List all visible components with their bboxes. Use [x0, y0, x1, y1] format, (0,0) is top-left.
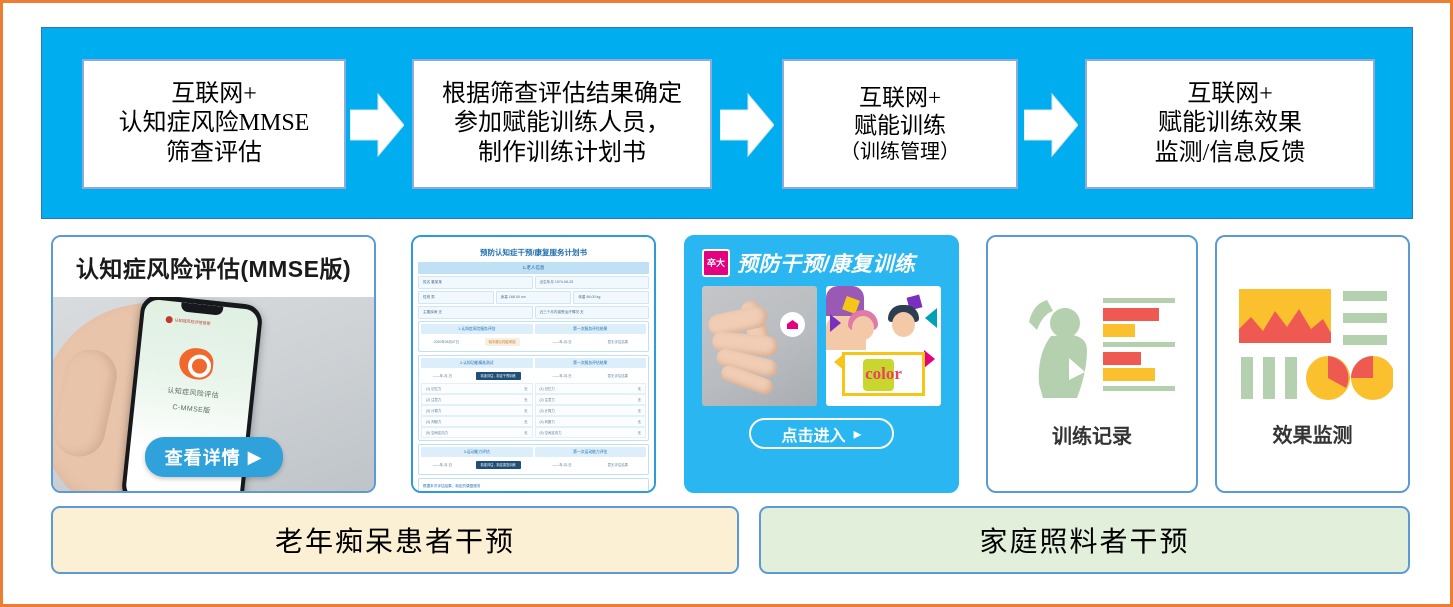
brand-text: 认知症风险评估管家	[174, 317, 210, 326]
plan-cell: 身高 168.00 cm	[496, 291, 572, 304]
plan-items-left: (1) 记忆力无 (2) 注意力无 (3) 计算力无 (4) 判断力无 (5) …	[421, 383, 533, 438]
plan-item-name: (3) 计算力	[540, 408, 555, 413]
plan-cell: 出生年月 1974-06-25	[535, 276, 650, 289]
plan-panel: 1.认知症风险服务评估 第一次服务评估结果 2020年06月07日 轻中度认知症…	[418, 321, 649, 352]
plan-cell: 主要疾病 无	[418, 306, 533, 319]
plan-item-lists: (1) 记忆力无 (2) 注意力无 (3) 计算力无 (4) 判断力无 (5) …	[421, 383, 646, 438]
color-board: color	[842, 352, 925, 396]
plan-item: (5) 空间定向力无	[421, 427, 533, 438]
plan-tag: 暂无评估结果	[608, 339, 628, 344]
plan-item-value: 无	[524, 430, 527, 435]
mmse-photo: 认知症风险评估管家 认知症风险评估 C-MMSE版 开始评测 查看详情 ▶	[53, 297, 374, 491]
plan-panel-sub: ——年-月-日 精准评估，制定干预训练 ——年-月-日 暂无评估结果	[421, 370, 646, 381]
play-arrow-icon: ▶	[248, 447, 263, 468]
plan-panel: 2.认知功能精准测试 第一次服务评估结果 ——年-月-日 精准评估，制定干预训练…	[418, 355, 649, 441]
rehab-header: 卒大 预防干预/康复训练	[686, 237, 957, 286]
plan-footer-heading: 根据本次评估结果，制定的康复服务	[423, 483, 644, 490]
plan-item-value: 无	[638, 419, 641, 424]
plan-item: (4) 判断力无	[535, 416, 647, 427]
enter-button-label: 点击进入	[781, 422, 845, 446]
confetti-shape	[925, 308, 937, 328]
plan-item-value: 无	[638, 386, 641, 391]
card-service-plan[interactable]: 预防认知症干预/康复服务计划书 1.老人信息 姓名 董某某 出生年月 1974-…	[411, 235, 656, 493]
plan-tag: 暂无评估结果	[608, 373, 628, 378]
plan-item-name: (2) 注意力	[426, 397, 441, 402]
confetti-shape	[830, 314, 841, 332]
plan-panel: 3.运动能力评估 第一次运动能力评估 ——年-月-日 精准评估，制定康复训练 —…	[418, 444, 649, 475]
card-rehab-training[interactable]: 卒大 预防干预/康复训练	[684, 235, 959, 493]
card-training-record[interactable]: 训练记录	[986, 235, 1198, 493]
chevron-right-icon: ▸	[853, 424, 861, 444]
plan-panel-left-header: 1.认知症风险服务评估	[421, 324, 533, 334]
plan-date: ——年-月-日	[433, 462, 452, 467]
plan-items-right: (1) 记忆力无 (2) 注意力无 (3) 计算力无 (4) 判断力无 (5) …	[535, 383, 647, 438]
card-effect-monitor[interactable]: 效果监测	[1215, 235, 1410, 493]
plan-footer: 根据本次评估结果，制定的康复服务 ☑认知功能康复训练1 □认知功能康复训练2 □…	[418, 478, 649, 493]
plan-item-name: (1) 记忆力	[540, 386, 555, 391]
plan-panel-header: 1.认知症风险服务评估 第一次服务评估结果	[421, 324, 646, 334]
plan-item-value: 无	[524, 397, 527, 402]
plan-item-value: 无	[638, 408, 641, 413]
plan-item: (3) 计算力无	[535, 405, 647, 416]
mmse-card-title: 认知症风险评估(MMSE版)	[53, 237, 374, 297]
finger-exercise-photo	[702, 286, 817, 406]
plan-item-name: (2) 注意力	[540, 397, 555, 402]
plan-panel-header: 3.运动能力评估 第一次运动能力评估	[421, 447, 646, 457]
plan-option[interactable]: ☑认知功能康复训练4	[538, 490, 570, 493]
card-mmse-assessment[interactable]: 认知症风险评估(MMSE版) 认知症风险评估管家 认知症风险评估 C-MMSE版…	[51, 235, 376, 493]
plan-item: (2) 注意力无	[535, 394, 647, 405]
training-record-tile: 训练记录	[988, 237, 1196, 491]
plan-cell: 近三个月内接受治疗情况 无	[535, 306, 650, 319]
plan-panel-header: 2.认知功能精准测试 第一次服务评估结果	[421, 358, 646, 368]
plan-item-name: (3) 计算力	[426, 408, 441, 413]
plan-item-value: 无	[524, 419, 527, 424]
plan-title: 预防认知症干预/康复服务计划书	[418, 242, 649, 262]
color-poster-image: color	[826, 286, 941, 406]
plan-panel-right-sub: ——年-月-日 暂无评估结果	[535, 459, 647, 470]
plan-item-name: (4) 判断力	[426, 419, 441, 424]
plan-tag: 暂无评估结果	[608, 462, 628, 467]
plan-option[interactable]: ☑认知功能康复训练1	[423, 490, 455, 493]
banner-caregiver-label: 家庭照料者干预	[979, 520, 1189, 560]
banner-patient-label: 老年痴呆患者干预	[275, 520, 515, 560]
brand-dot-icon	[165, 316, 173, 324]
view-details-label: 查看详情	[165, 444, 241, 470]
plan-panel-left-header: 2.认知功能精准测试	[421, 358, 533, 368]
plan-footer-options-row-1: ☑认知功能康复训练1 □认知功能康复训练2 □认知功能康复训练3 ☑认知功能康复…	[423, 490, 644, 493]
plan-option[interactable]: □认知功能康复训练2	[462, 490, 493, 493]
plan-date: ——年-月-日	[552, 339, 571, 344]
plan-item-name: (1) 记忆力	[426, 386, 441, 391]
plan-item: (2) 注意力无	[421, 394, 533, 405]
plan-item-value: 无	[524, 386, 527, 391]
color-word: color	[845, 364, 922, 384]
girl-head	[852, 316, 874, 340]
plan-cell: 性别 男	[418, 291, 494, 304]
enter-button[interactable]: 点击进入 ▸	[749, 418, 894, 449]
plan-panel-left-header: 3.运动能力评估	[421, 447, 533, 457]
rehab-title: 预防干预/康复训练	[737, 248, 915, 278]
plan-panel-sub: 2020年06月07日 轻中度认知症风险 ——年-月-日 暂无评估结果	[421, 336, 646, 347]
banner-caregiver[interactable]: 家庭照料者干预	[759, 506, 1410, 574]
plan-info-row: 主要疾病 无 近三个月内接受治疗情况 无	[418, 306, 649, 319]
plan-tag: 轻中度认知症风险	[485, 338, 520, 346]
plan-panel-right-header: 第一次运动能力评估	[535, 447, 647, 457]
plan-cell: 体重 66.00 kg	[573, 291, 649, 304]
plan-panel-left-sub: 2020年06月07日 轻中度认知症风险	[421, 336, 533, 347]
exercise-bars-icon	[1007, 280, 1177, 410]
plan-panel-left-sub: ——年-月-日 精准评估，制定干预训练	[421, 370, 533, 381]
plan-panel-right-sub: ——年-月-日 暂无评估结果	[535, 336, 647, 347]
plan-item-name: (4) 判断力	[540, 419, 555, 424]
charts-icon	[1233, 281, 1393, 409]
plan-item: (4) 判断力无	[421, 416, 533, 427]
plan-panel-right-header: 第一次服务评估结果	[535, 358, 647, 368]
phone-notch-icon	[181, 302, 224, 315]
plan-option[interactable]: □认知功能康复训练3	[500, 490, 531, 493]
plan-item: (1) 记忆力无	[421, 383, 533, 394]
effect-monitor-label: 效果监测	[1273, 419, 1353, 448]
training-record-label: 训练记录	[1052, 420, 1132, 449]
plan-item-name: (5) 空间定向力	[540, 430, 562, 435]
plan-panel-right-header: 第一次服务评估结果	[535, 324, 647, 334]
seal-stamp-icon: 卒大	[702, 249, 730, 277]
plan-item: (1) 记忆力无	[535, 383, 647, 394]
plan-document: 预防认知症干预/康复服务计划书 1.老人信息 姓名 董某某 出生年月 1974-…	[413, 237, 654, 491]
view-details-button[interactable]: 查看详情 ▶	[145, 437, 283, 477]
plan-section-1: 1.老人信息	[418, 262, 649, 274]
app-brand: 认知症风险评估管家	[165, 316, 210, 328]
rehab-images: color	[686, 286, 957, 406]
plan-date: 2020年06月07日	[434, 339, 459, 344]
plan-date: ——年-月-日	[552, 462, 571, 467]
plan-cell: 姓名 董某某	[418, 276, 533, 289]
house-badge-icon	[780, 312, 805, 337]
plan-item: (5) 空间定向力无	[535, 427, 647, 438]
plan-item-value: 无	[638, 397, 641, 402]
brain-gear-icon	[178, 347, 215, 381]
plan-item-name: (5) 空间定向力	[426, 430, 448, 435]
effect-monitor-tile: 效果监测	[1217, 237, 1408, 491]
plan-date: ——年-月-日	[552, 373, 571, 378]
confetti-shape	[924, 350, 935, 368]
plan-panel-sub: ——年-月-日 精准评估，制定康复训练 ——年-月-日 暂无评估结果	[421, 459, 646, 470]
plan-date: ——年-月-日	[433, 373, 452, 378]
plan-info-row: 姓名 董某某 出生年月 1974-06-25	[418, 276, 649, 289]
plan-panel-left-sub: ——年-月-日 精准评估，制定康复训练	[421, 459, 533, 470]
diagram-root: 互联网+ 认知症风险MMSE 筛查评估 根据筛查评估结果确定 参加赋能训练人员，…	[0, 0, 1453, 607]
plan-info-row: 性别 男 身高 168.00 cm 体重 66.00 kg	[418, 291, 649, 304]
banner-patient[interactable]: 老年痴呆患者干预	[51, 506, 739, 574]
plan-item-value: 无	[524, 408, 527, 413]
plan-item: (3) 计算力无	[421, 405, 533, 416]
plan-tag: 精准评估，制定康复训练	[476, 461, 521, 469]
plan-tag: 精准评估，制定干预训练	[476, 372, 521, 380]
boy-head	[892, 312, 915, 337]
plan-item-value: 无	[638, 430, 641, 435]
plan-panel-right-sub: ——年-月-日 暂无评估结果	[535, 370, 647, 381]
